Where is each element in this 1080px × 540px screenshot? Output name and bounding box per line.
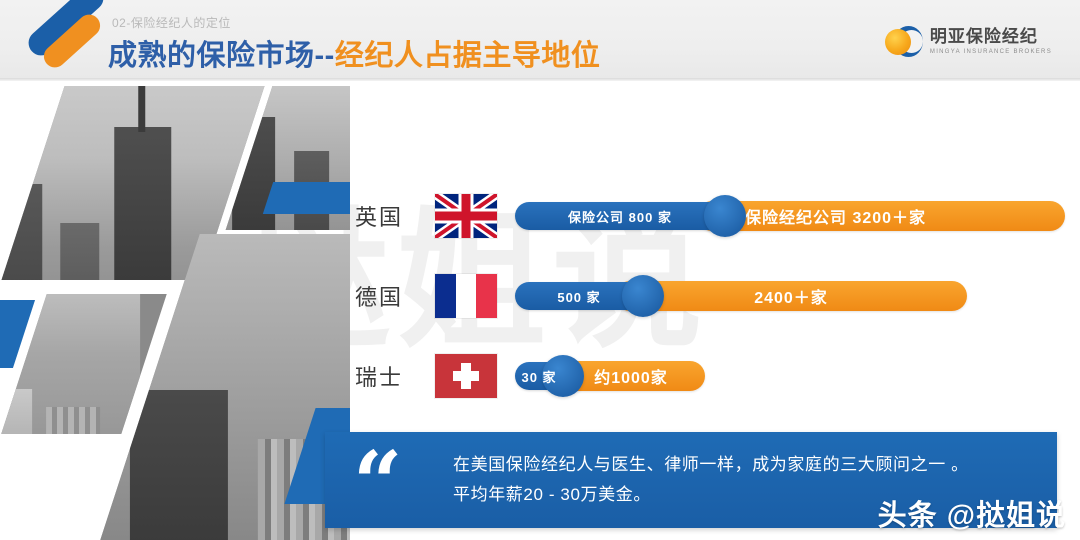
blue-pill-label: 30 家 <box>507 367 570 386</box>
slide-canvas: 挞姐说 02-保险经纪人的定位 成熟的保险市场--经纪人占据主导地位 <box>0 0 1080 540</box>
blue-pill-label: 500 家 <box>543 287 614 306</box>
header-divider <box>0 78 1080 81</box>
orange-bar-brokers: 2400＋家 <box>615 281 967 311</box>
page-title-accent: 经纪人占据主导地位 <box>335 40 601 72</box>
flag-tricolor-icon <box>435 274 497 318</box>
flag-uk-icon <box>435 194 497 238</box>
country-row-germany: 德国 2400＋家 500 家 <box>355 256 1055 336</box>
bar-group: 保险经纪公司 3200＋家 保险公司 800 家 <box>515 194 1055 238</box>
slide-header: 02-保险经纪人的定位 成熟的保险市场--经纪人占据主导地位 明亚保险经纪 MI… <box>0 0 1080 78</box>
orange-bar-label: 约1000家 <box>594 364 668 388</box>
channel-watermark: 头条 @挞姐说 <box>878 492 1066 534</box>
section-eyebrow: 02-保险经纪人的定位 <box>112 14 231 31</box>
flag-switzerland-icon <box>435 354 497 398</box>
accent-parallelogram-mid <box>263 182 350 214</box>
country-row-uk: 英国 保险经纪公司 3200＋家 保险公司 800 家 <box>355 176 1055 256</box>
blue-pill-insurers: 保险公司 800 家 <box>515 202 725 230</box>
country-label: 瑞士 <box>355 360 403 392</box>
logo-sun-icon <box>885 26 923 58</box>
country-label: 德国 <box>355 280 403 312</box>
company-logo: 明亚保险经纪 MINGYA INSURANCE BROKERS <box>885 24 1052 60</box>
bar-group: 约1000家 30 家 <box>515 354 1055 398</box>
country-row-switzerland: 瑞士 约1000家 30 家 <box>355 336 1055 416</box>
quote-line-1: 在美国保险经纪人与医生、律师一样，成为家庭的三大顾问之一 。 <box>453 450 1037 480</box>
country-comparison-list: 英国 保险经纪公司 3200＋家 保险公司 800 家 德国 <box>355 176 1055 416</box>
page-title-primary: 成熟的保险市场-- <box>108 40 335 72</box>
blue-pill-insurers: 30 家 <box>515 362 563 390</box>
image-collage <box>0 86 350 540</box>
orange-bar-brokers: 保险经纪公司 3200＋家 <box>697 201 1065 231</box>
brand-swoosh-icon <box>18 0 114 78</box>
country-label: 英国 <box>355 200 403 232</box>
orange-bar-label: 2400＋家 <box>754 284 828 308</box>
logo-name-cn: 明亚保险经纪 <box>930 29 1052 46</box>
quote-mark-icon: “ <box>353 450 402 519</box>
blue-pill-insurers: 500 家 <box>515 282 643 310</box>
logo-name-en: MINGYA INSURANCE BROKERS <box>930 49 1052 55</box>
bar-group: 2400＋家 500 家 <box>515 274 1055 318</box>
page-title: 成熟的保险市场--经纪人占据主导地位 <box>108 32 600 74</box>
orange-bar-label: 保险经纪公司 3200＋家 <box>745 204 926 228</box>
blue-pill-label: 保险公司 800 家 <box>554 207 686 226</box>
